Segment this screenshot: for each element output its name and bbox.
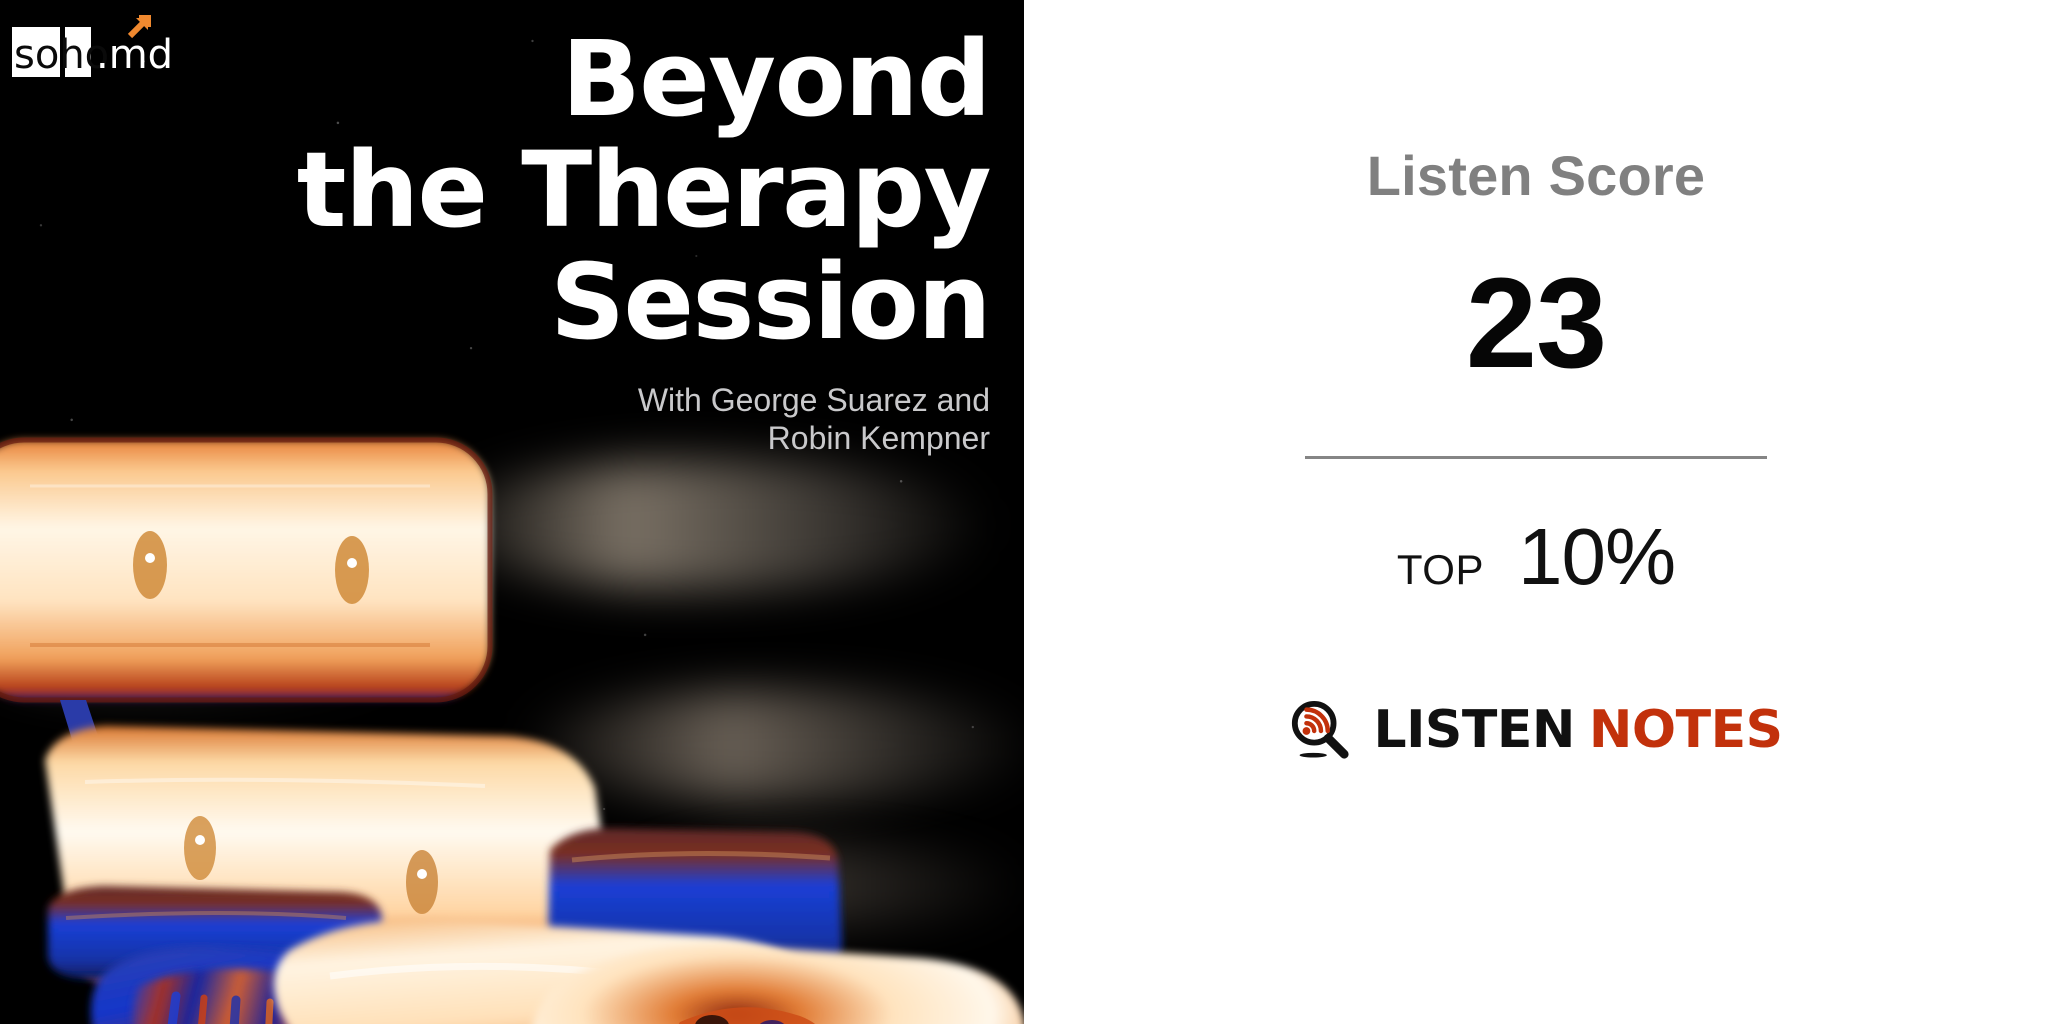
podcast-hosts-subtitle: With George Suarez and Robin Kempner xyxy=(60,382,990,458)
listen-score-card: soho .md Beyond the Therapy Session With… xyxy=(0,0,2048,1024)
rank-prefix-label: TOP xyxy=(1397,546,1484,594)
podcast-cover-art: soho .md Beyond the Therapy Session With… xyxy=(0,0,1024,1024)
score-divider xyxy=(1305,456,1767,459)
listen-score-panel: Listen Score 23 TOP 10% LISTENNOTES xyxy=(1024,0,2048,1024)
cover-text-block: Beyond the Therapy Session With George S… xyxy=(60,24,990,457)
wordmark-notes: NOTES xyxy=(1589,700,1783,760)
listen-notes-magnifier-rss-icon xyxy=(1289,699,1351,761)
score-rank: TOP 10% xyxy=(1397,511,1675,603)
rank-percentile-value: 10% xyxy=(1518,511,1675,603)
listen-score-label: Listen Score xyxy=(1367,148,1706,204)
soho-md-logo: soho .md xyxy=(8,6,218,78)
svg-text:soho: soho xyxy=(14,32,109,78)
svg-text:.md: .md xyxy=(96,32,173,78)
wordmark-listen: LISTEN xyxy=(1373,700,1574,760)
listen-notes-logo[interactable]: LISTENNOTES xyxy=(1289,699,1782,761)
eames-chair-artwork xyxy=(0,430,1024,1024)
listen-score-value: 23 xyxy=(1466,260,1606,388)
listen-notes-wordmark: LISTENNOTES xyxy=(1373,704,1782,756)
